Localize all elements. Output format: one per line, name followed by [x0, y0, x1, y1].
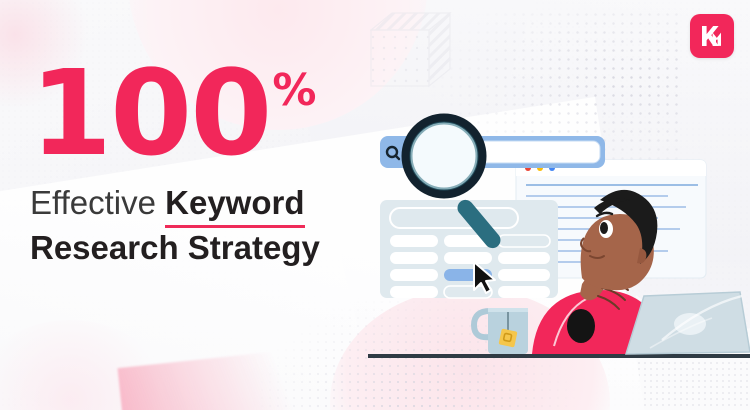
illustration [368, 96, 750, 396]
desk-line [368, 354, 750, 358]
headline-word-effective: Effective [30, 184, 156, 221]
laptop [626, 292, 750, 354]
person-sleeve-shadow [567, 309, 595, 343]
km-monogram-icon [699, 23, 725, 49]
tea-tag [499, 329, 518, 348]
pink-streak [117, 344, 352, 410]
headline-word-keyword: Keyword [165, 184, 304, 223]
percent-headline: 100 % [30, 62, 410, 166]
percent-sign: % [272, 72, 316, 111]
pink-accent-bottom-left [0, 320, 170, 410]
headline-line-3: Research Strategy [30, 229, 410, 268]
percent-number: 100 [30, 62, 270, 166]
coffee-mug [474, 308, 528, 354]
keyword-research-banner: 100 % Effective Keyword Research Strateg… [0, 0, 750, 410]
headline-line-2: Effective Keyword [30, 184, 410, 223]
brand-logo[interactable] [690, 14, 734, 58]
headline-block: 100 % Effective Keyword Research Strateg… [30, 62, 410, 268]
